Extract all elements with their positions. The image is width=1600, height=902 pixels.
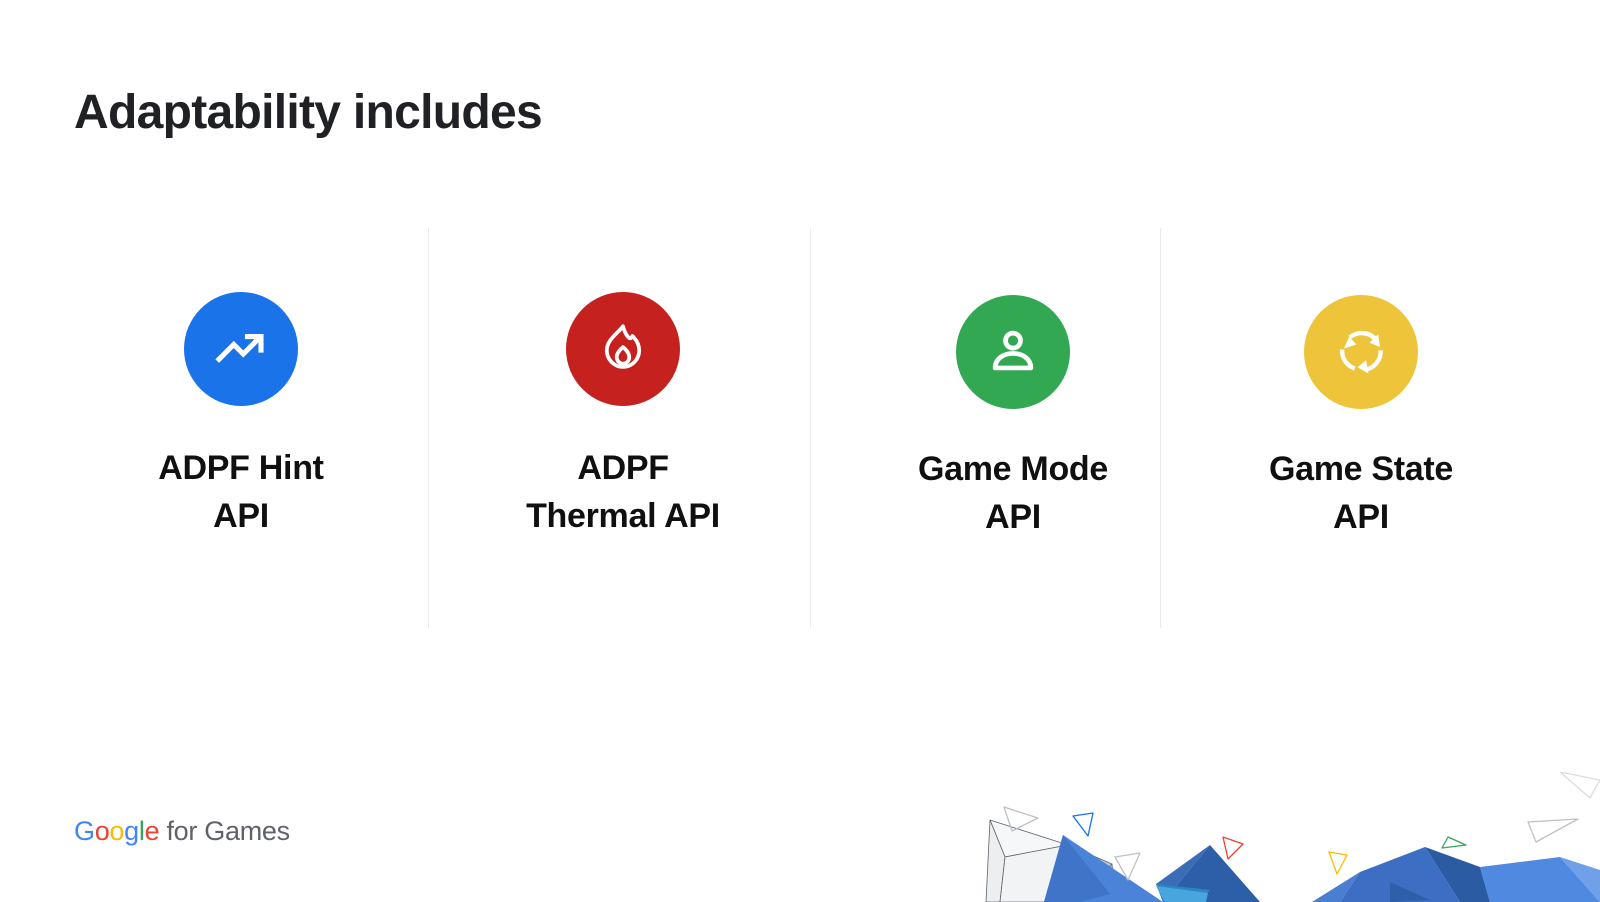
label-line-2: API [213,497,269,535]
api-card-game-state: Game State API [1211,228,1511,628]
api-columns-container: ADPF Hint API ADPF Thermal API [74,228,1526,628]
api-card-adpf-thermal: ADPF Thermal API [473,228,773,628]
label-line-2: API [985,498,1041,536]
accent-triangle-grey-3 [1528,819,1578,842]
api-card-label-adpf-thermal: ADPF Thermal API [458,444,788,541]
google-for-games-logo: Google for Games [74,818,290,845]
accent-triangle-blue [1073,813,1093,836]
icon-badge-adpf-thermal [566,292,680,406]
flame-icon [594,320,652,378]
api-card-adpf-hint: ADPF Hint API [91,228,391,628]
label-line-1: ADPF Hint [158,449,323,487]
trending-up-icon [211,319,271,379]
api-card-label-game-state: Game State API [1196,445,1526,542]
accent-triangle-red [1223,837,1243,859]
icon-badge-adpf-hint [184,292,298,406]
column-divider-2 [810,228,811,628]
label-line-2: API [1333,498,1389,536]
icon-badge-game-mode [956,295,1070,409]
logo-letter-e-red: e [145,816,160,846]
logo-letter-o-red: o [95,816,110,846]
api-card-label-game-mode: Game Mode API [848,445,1178,542]
logo-letter-g-blue: G [74,816,95,846]
grey-polyhedron [986,820,1116,902]
low-poly-decoration [960,772,1600,902]
logo-suffix-for-games: for Games [159,816,290,846]
icon-badge-game-state [1304,295,1418,409]
person-icon [984,323,1042,381]
accent-triangle-grey-2 [1115,853,1140,880]
logo-letter-o-yellow: o [109,816,124,846]
slide-root: Adaptability includes ADPF Hint API [0,0,1600,902]
label-line-2: Thermal API [526,497,720,535]
label-line-1: Game Mode [918,450,1108,488]
column-divider-1 [428,228,429,628]
accent-triangle-yellow [1329,852,1347,874]
autorenew-sync-icon [1331,322,1391,382]
label-line-1: ADPF [577,449,668,487]
page-title: Adaptability includes [74,84,542,142]
api-card-label-adpf-hint: ADPF Hint API [76,444,406,541]
accent-triangle-grey-1 [1004,807,1038,831]
accent-triangle-green [1442,837,1466,848]
logo-letter-g-blue2: g [124,816,139,846]
accent-triangle-grey-4 [1560,772,1600,798]
blue-polygons-right [1312,847,1600,902]
api-card-game-mode: Game Mode API [863,228,1163,628]
label-line-1: Game State [1269,450,1453,488]
blue-polygons-middle [1044,835,1260,902]
